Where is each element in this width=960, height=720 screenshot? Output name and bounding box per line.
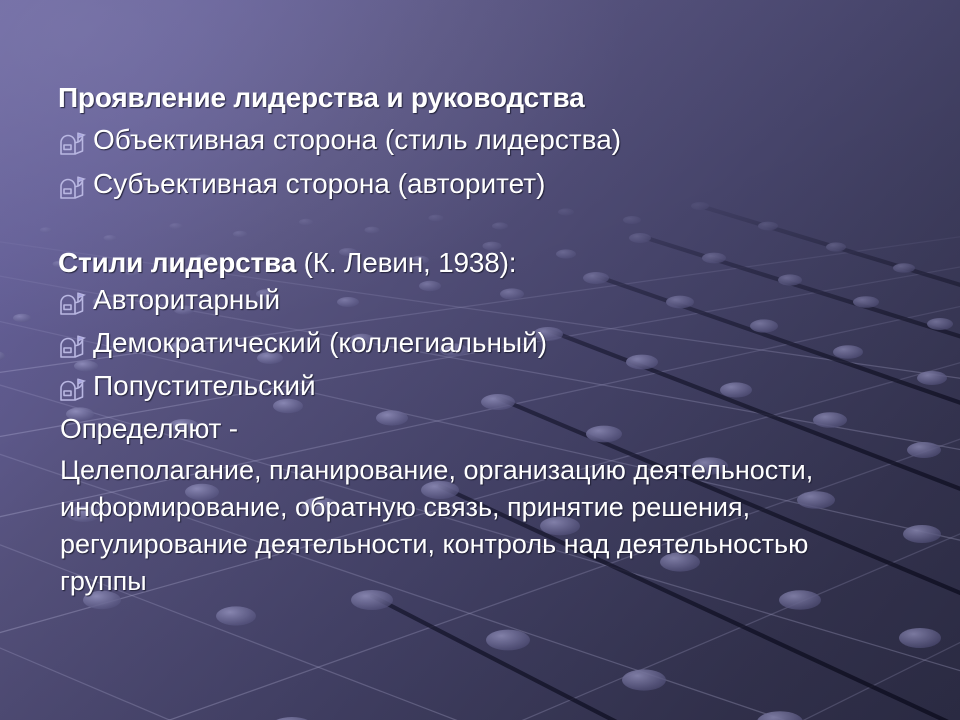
presentation-slide: Проявление лидерства и руководства Объек… (0, 0, 960, 720)
mailbox-icon (58, 289, 94, 319)
mailbox-icon (58, 173, 94, 203)
list-item[interactable]: Субъективная сторона (авторитет) (58, 170, 545, 203)
list-item[interactable]: Демократический (коллегиальный) (58, 329, 547, 362)
mailbox-icon (58, 332, 94, 362)
mailbox-icon (58, 375, 94, 405)
body-paragraph: Целеполагание, планирование, организацию… (27, 452, 820, 600)
list-item-label: Объективная сторона (стиль лидерства) (93, 126, 621, 154)
list-item-label: Попустительский (93, 372, 316, 400)
slide-content: Проявление лидерства и руководства Объек… (0, 0, 960, 720)
list-item-label: Демократический (коллегиальный) (93, 329, 547, 357)
section-heading-normal: (К. Левин, 1938): (296, 247, 516, 278)
list-item-label: Авторитарный (93, 286, 280, 314)
list-item[interactable]: Объективная сторона (стиль лидерства) (58, 126, 621, 159)
mailbox-icon (58, 129, 94, 159)
section-heading-bold: Стили лидерства (58, 247, 296, 278)
list-item[interactable]: Попустительский (58, 372, 316, 405)
list-item-label: Субъективная сторона (авторитет) (93, 170, 545, 198)
list-item[interactable]: Авторитарный (58, 286, 280, 319)
page-title: Проявление лидерства и руководства (58, 84, 584, 112)
intro-line: Определяют - (60, 415, 238, 443)
section-heading: Стили лидерства (К. Левин, 1938): (58, 249, 516, 277)
